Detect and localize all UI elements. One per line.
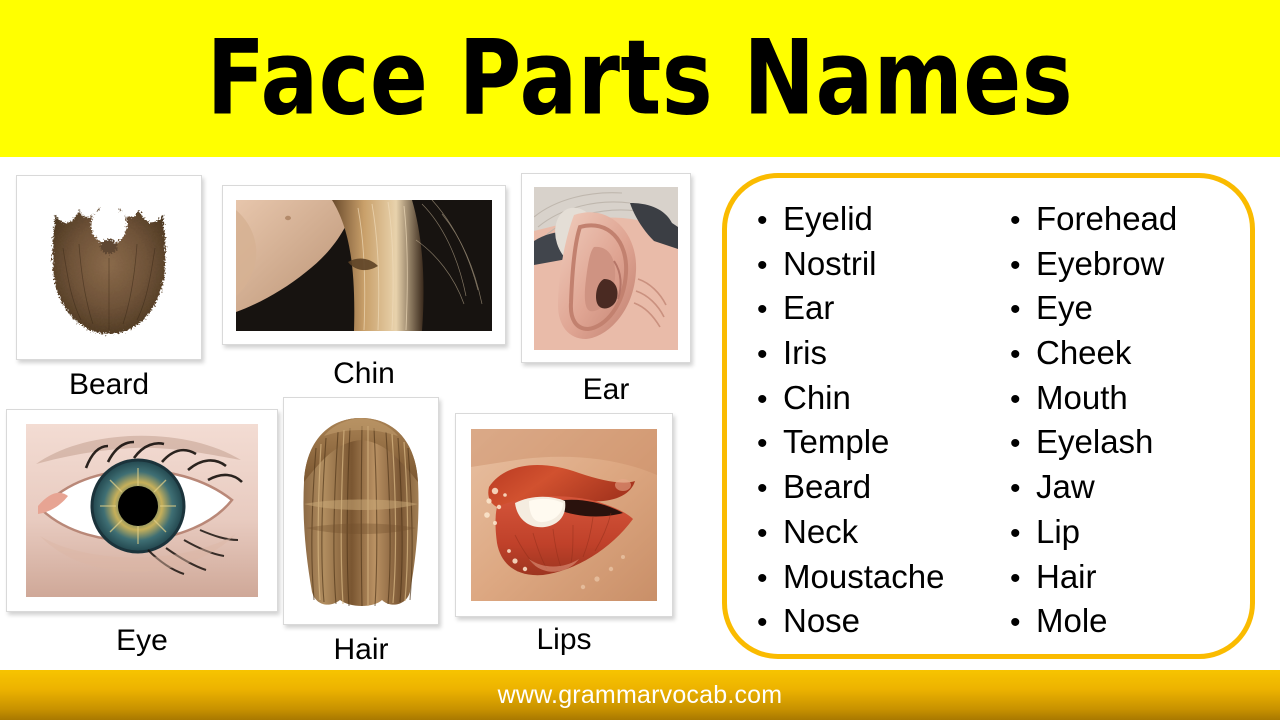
lips-photo xyxy=(471,429,657,601)
hair-photo xyxy=(294,408,428,614)
list-item[interactable]: • Eyebrow xyxy=(1010,247,1250,292)
list-item[interactable]: • Chin xyxy=(757,381,1007,426)
list-item-label: Eyelash xyxy=(1036,425,1153,458)
header-banner: Face Parts Names xyxy=(0,0,1280,157)
list-item-label: Lip xyxy=(1036,515,1080,548)
list-item-label: Moustache xyxy=(783,560,944,593)
list-item[interactable]: • Mole xyxy=(1010,604,1250,649)
bullet-icon: • xyxy=(1010,295,1036,325)
list-item[interactable]: • Moustache xyxy=(757,560,1007,605)
list-item-label: Eyebrow xyxy=(1036,247,1164,280)
list-item[interactable]: • Lip xyxy=(1010,515,1250,560)
bullet-icon: • xyxy=(1010,608,1036,638)
bullet-icon: • xyxy=(757,251,783,281)
list-item-label: Neck xyxy=(783,515,858,548)
photo-label-ear: Ear xyxy=(521,373,691,407)
bullet-icon: • xyxy=(1010,474,1036,504)
list-item-label: Cheek xyxy=(1036,336,1131,369)
list-item[interactable]: • Beard xyxy=(757,470,1007,515)
list-item[interactable]: • Nostril xyxy=(757,247,1007,292)
photo-label-lips: Lips xyxy=(455,623,673,657)
list-item[interactable]: • Ear xyxy=(757,291,1007,336)
page-title: Face Parts Names xyxy=(207,27,1074,130)
list-item-label: Eyelid xyxy=(783,202,873,235)
bullet-icon: • xyxy=(757,429,783,459)
photo-label-chin: Chin xyxy=(222,357,506,391)
chin-photo xyxy=(236,200,492,331)
list-item[interactable]: • Eyelash xyxy=(1010,425,1250,470)
bullet-icon: • xyxy=(1010,251,1036,281)
bullet-icon: • xyxy=(1010,340,1036,370)
list-item-label: Chin xyxy=(783,381,851,414)
list-item-label: Nose xyxy=(783,604,860,637)
photo-label-beard: Beard xyxy=(16,368,202,402)
bullet-icon: • xyxy=(757,608,783,638)
list-item[interactable]: • Cheek xyxy=(1010,336,1250,381)
photo-label-hair: Hair xyxy=(283,633,439,667)
list-item-label: Ear xyxy=(783,291,834,324)
list-item[interactable]: • Eye xyxy=(1010,291,1250,336)
vocabulary-column-2: • Forehead • Eyebrow • Eye • Cheek • Mou… xyxy=(1010,202,1250,649)
bullet-icon: • xyxy=(757,340,783,370)
bullet-icon: • xyxy=(757,564,783,594)
bullet-icon: • xyxy=(757,474,783,504)
list-item-label: Mouth xyxy=(1036,381,1128,414)
bullet-icon: • xyxy=(757,519,783,549)
bullet-icon: • xyxy=(757,206,783,236)
photo-card-ear[interactable] xyxy=(521,173,691,363)
list-item[interactable]: • Forehead xyxy=(1010,202,1250,247)
list-item[interactable]: • Mouth xyxy=(1010,381,1250,426)
bullet-icon: • xyxy=(757,295,783,325)
bullet-icon: • xyxy=(757,385,783,415)
list-item-label: Mole xyxy=(1036,604,1108,637)
bullet-icon: • xyxy=(1010,206,1036,236)
bullet-icon: • xyxy=(1010,429,1036,459)
footer-bar: www.grammarvocab.com xyxy=(0,670,1280,720)
list-item-label: Nostril xyxy=(783,247,877,280)
list-item[interactable]: • Temple xyxy=(757,425,1007,470)
footer-website-url[interactable]: www.grammarvocab.com xyxy=(498,681,783,710)
list-item-label: Eye xyxy=(1036,291,1093,324)
vocabulary-column-1: • Eyelid • Nostril • Ear • Iris • Chin •… xyxy=(757,202,1007,649)
eye-photo xyxy=(26,424,258,597)
main-content-area: Beard xyxy=(0,157,1280,670)
list-item-label: Iris xyxy=(783,336,827,369)
photo-card-chin[interactable] xyxy=(222,185,506,345)
list-item[interactable]: • Iris xyxy=(757,336,1007,381)
list-item[interactable]: • Neck xyxy=(757,515,1007,560)
photo-card-beard[interactable] xyxy=(16,175,202,360)
photo-card-lips[interactable] xyxy=(455,413,673,617)
photo-card-hair[interactable] xyxy=(283,397,439,625)
list-item[interactable]: • Nose xyxy=(757,604,1007,649)
list-item-label: Beard xyxy=(783,470,871,503)
list-item[interactable]: • Jaw xyxy=(1010,470,1250,515)
bullet-icon: • xyxy=(1010,519,1036,549)
list-item-label: Temple xyxy=(783,425,889,458)
list-item-label: Forehead xyxy=(1036,202,1177,235)
list-item-label: Jaw xyxy=(1036,470,1095,503)
bullet-icon: • xyxy=(1010,385,1036,415)
vocabulary-list-panel: • Eyelid • Nostril • Ear • Iris • Chin •… xyxy=(722,173,1255,659)
beard-photo xyxy=(29,188,189,348)
ear-photo xyxy=(534,187,678,350)
photo-card-eye[interactable] xyxy=(6,409,278,612)
list-item[interactable]: • Hair xyxy=(1010,560,1250,605)
bullet-icon: • xyxy=(1010,564,1036,594)
list-item-label: Hair xyxy=(1036,560,1097,593)
photo-label-eye: Eye xyxy=(6,624,278,658)
list-item[interactable]: • Eyelid xyxy=(757,202,1007,247)
